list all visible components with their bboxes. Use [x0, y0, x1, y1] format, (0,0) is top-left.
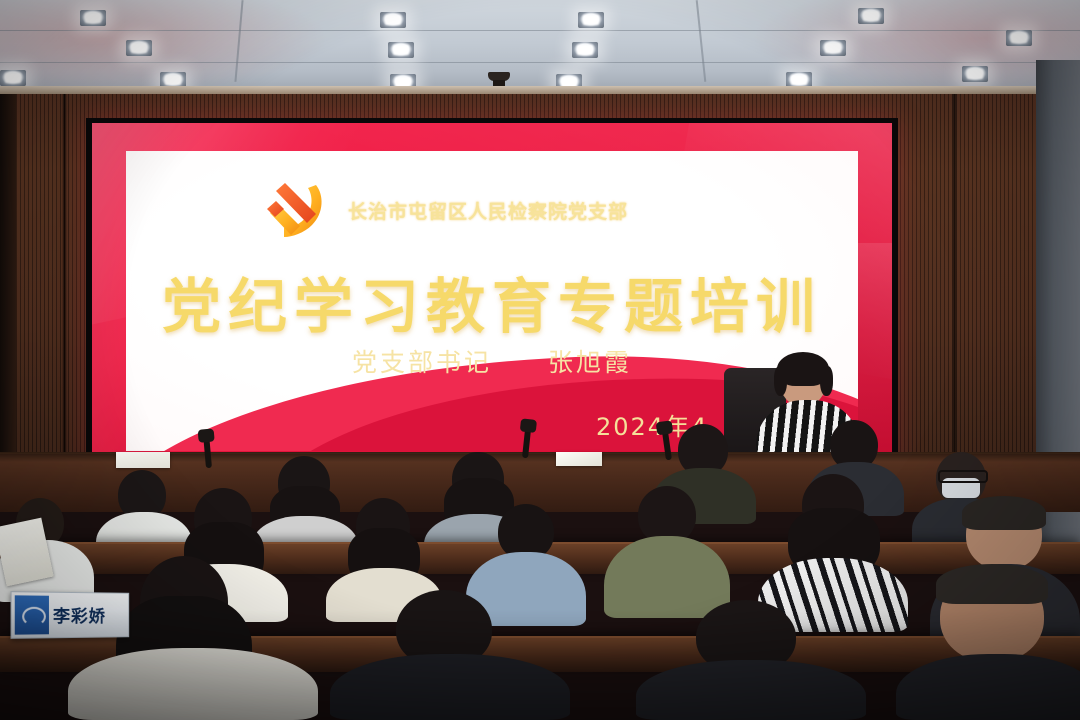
procuratorate-emblem [15, 595, 49, 634]
slide-main-title: 党纪学习教育专题培训 [126, 259, 858, 344]
attendee-body [68, 648, 318, 720]
presenter-hair-side [774, 366, 787, 396]
ceiling-downlight [578, 12, 604, 28]
ceiling-downlight [962, 66, 988, 82]
desk-nameplate: 李彩娇 [11, 591, 130, 639]
list-item [636, 600, 866, 720]
attendee-body [636, 660, 866, 720]
list-item [68, 556, 318, 720]
ceiling-downlight [126, 40, 152, 56]
list-item [604, 486, 730, 618]
ceiling-downlight [80, 10, 106, 26]
attendee-glasses-icon [938, 470, 988, 483]
ceiling-seam [0, 62, 1080, 63]
presenter-hair-side [820, 366, 833, 396]
ceiling-downlight [820, 40, 846, 56]
nameplate-name: 李彩娇 [53, 602, 106, 627]
ceiling-downlight [572, 42, 598, 58]
wall-panel-seam [952, 94, 957, 474]
conference-room-photo: 长治市屯留区人民检察院党支部 党纪学习教育专题培训 党支部书记 张旭霞 2024… [0, 0, 1080, 720]
slide-organization-name: 长治市屯留区人民检察院党支部 [348, 197, 628, 224]
list-item [896, 570, 1080, 720]
ceiling [0, 0, 1080, 96]
attendee-body [896, 654, 1080, 720]
attendee-hair [962, 496, 1046, 530]
ceiling-seam [0, 30, 1080, 31]
attendee-hair [936, 564, 1048, 604]
ceiling-seam [696, 0, 707, 82]
ceiling-downlight [1006, 30, 1032, 46]
wall-left-shadow [0, 94, 16, 474]
ceiling-downlight [0, 70, 26, 86]
ceiling-downlight [858, 8, 884, 24]
attendee-body [330, 654, 570, 720]
desk-document [116, 452, 170, 468]
wall-panel-seam [62, 94, 67, 474]
ccp-hammer-sickle-emblem [254, 179, 340, 245]
list-item [330, 590, 570, 720]
ceiling-downlight [380, 12, 406, 28]
ceiling-downlight [388, 42, 414, 58]
desk-document [556, 452, 602, 466]
